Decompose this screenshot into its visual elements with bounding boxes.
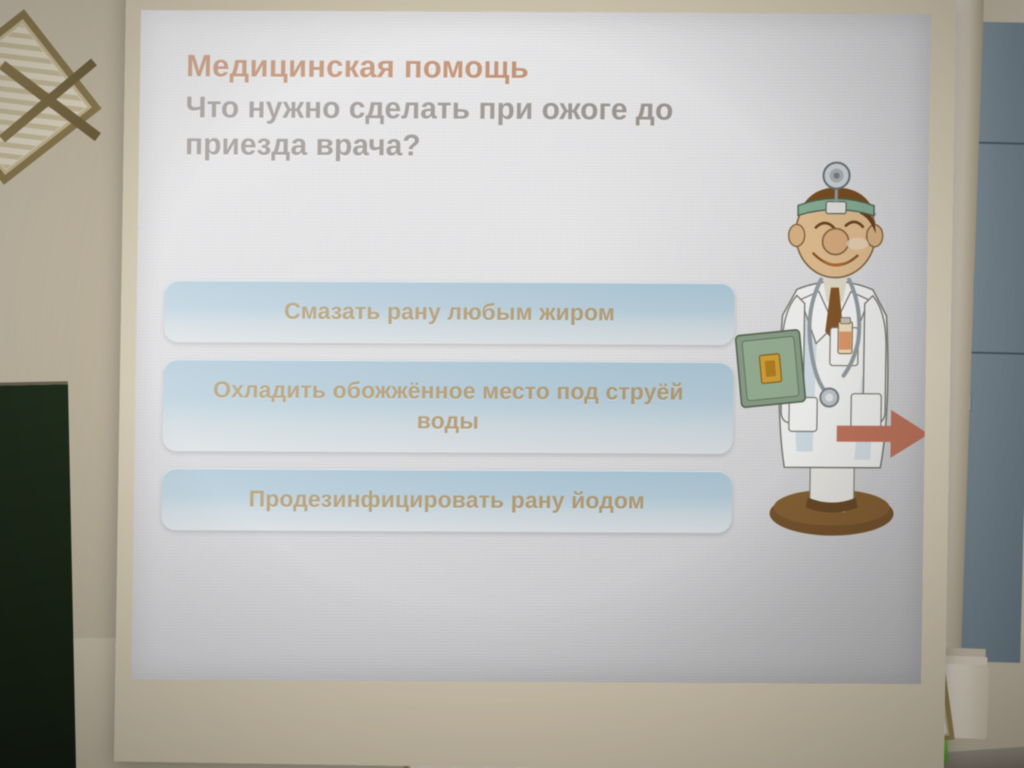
next-arrow-icon[interactable] bbox=[834, 406, 931, 462]
classroom-photo-scene: такое проверочное слово, чтобы безударна… bbox=[0, 0, 1024, 768]
slide-question: Что нужно сделать при ожоге до приезда в… bbox=[185, 90, 756, 166]
doctor-illustration bbox=[731, 161, 931, 547]
slide-title: Медицинская помощь bbox=[186, 48, 529, 86]
answer-option-1[interactable]: Смазать рану любым жиром bbox=[164, 280, 735, 345]
answer-list: Смазать рану любым жиром Охладить обожжё… bbox=[161, 280, 735, 550]
answer-option-2[interactable]: Охладить обожжённое место под струёй вод… bbox=[162, 359, 733, 454]
chalkboard bbox=[0, 381, 76, 768]
projected-slide: Медицинская помощь Что нужно сделать при… bbox=[131, 10, 931, 684]
answer-option-3[interactable]: Продезинфицировать рану йодом bbox=[161, 468, 732, 533]
